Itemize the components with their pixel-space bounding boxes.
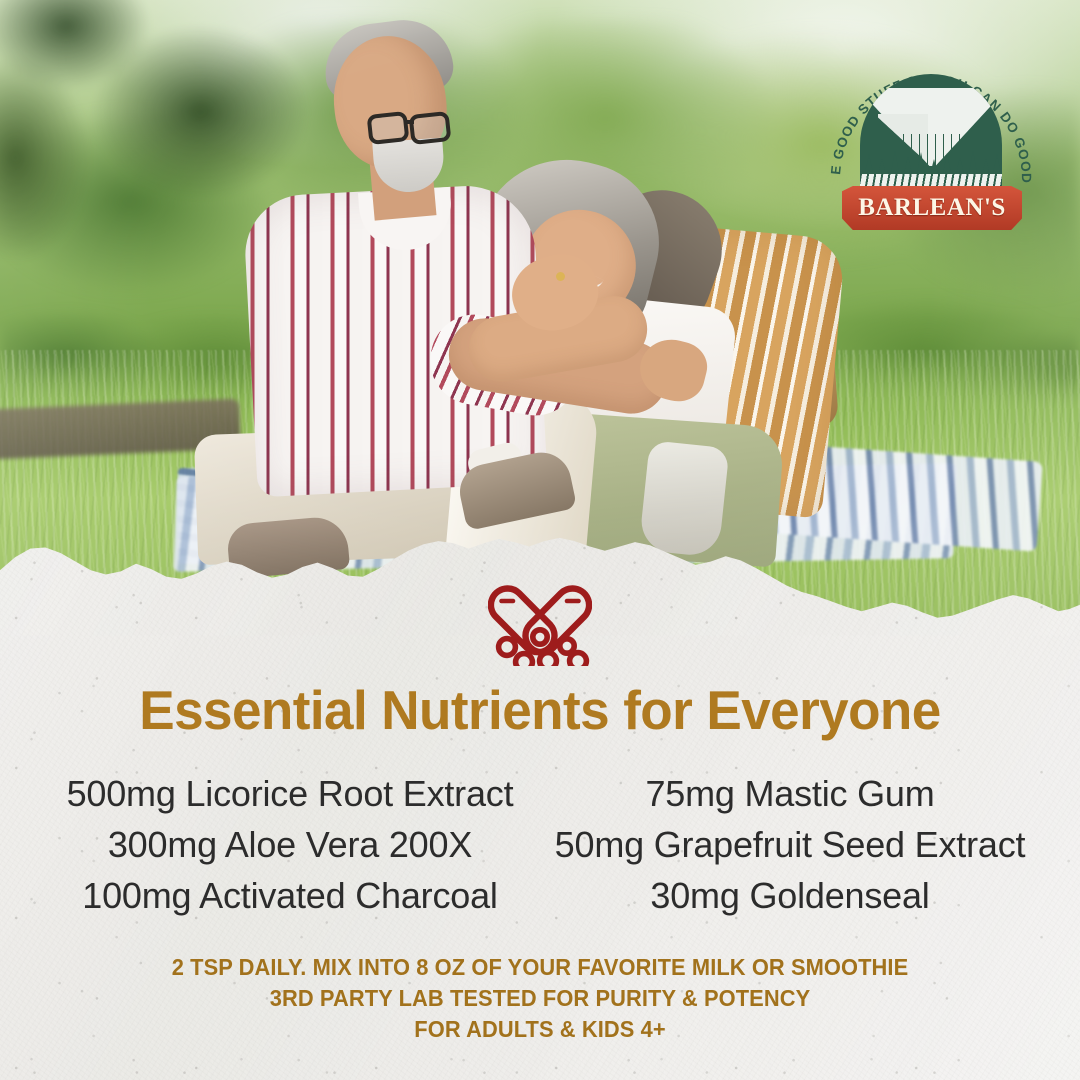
ingredient-column-right: 75mg Mastic Gum 50mg Grapefruit Seed Ext… bbox=[540, 768, 1040, 921]
ingredient-item: 300mg Aloe Vera 200X bbox=[40, 819, 540, 870]
ingredient-item: 30mg Goldenseal bbox=[540, 870, 1040, 921]
ingredient-column-left: 500mg Licorice Root Extract 300mg Aloe V… bbox=[40, 768, 540, 921]
ingredient-item: 500mg Licorice Root Extract bbox=[40, 768, 540, 819]
ingredient-item: 75mg Mastic Gum bbox=[540, 768, 1040, 819]
page-title: Essential Nutrients for Everyone bbox=[19, 683, 1061, 738]
ingredient-item: 50mg Grapefruit Seed Extract bbox=[540, 819, 1040, 870]
usage-note-line: 3RD PARTY LAB TESTED FOR PURITY & POTENC… bbox=[27, 983, 1053, 1014]
usage-note-line: FOR ADULTS & KIDS 4+ bbox=[27, 1014, 1053, 1045]
ingredient-list: 500mg Licorice Root Extract 300mg Aloe V… bbox=[0, 768, 1080, 921]
usage-notes: 2 TSP DAILY. MIX INTO 8 OZ OF YOUR FAVOR… bbox=[0, 952, 1080, 1045]
ingredient-item: 100mg Activated Charcoal bbox=[40, 870, 540, 921]
poster-canvas: WE MAKE GOOD STUFF SO YOU CAN DO GOOD ST… bbox=[0, 0, 1080, 1080]
usage-note-line: 2 TSP DAILY. MIX INTO 8 OZ OF YOUR FAVOR… bbox=[27, 952, 1053, 983]
crossed-capsules-with-granules-icon bbox=[488, 578, 592, 666]
poster-content: Essential Nutrients for Everyone 500mg L… bbox=[0, 0, 1080, 1080]
